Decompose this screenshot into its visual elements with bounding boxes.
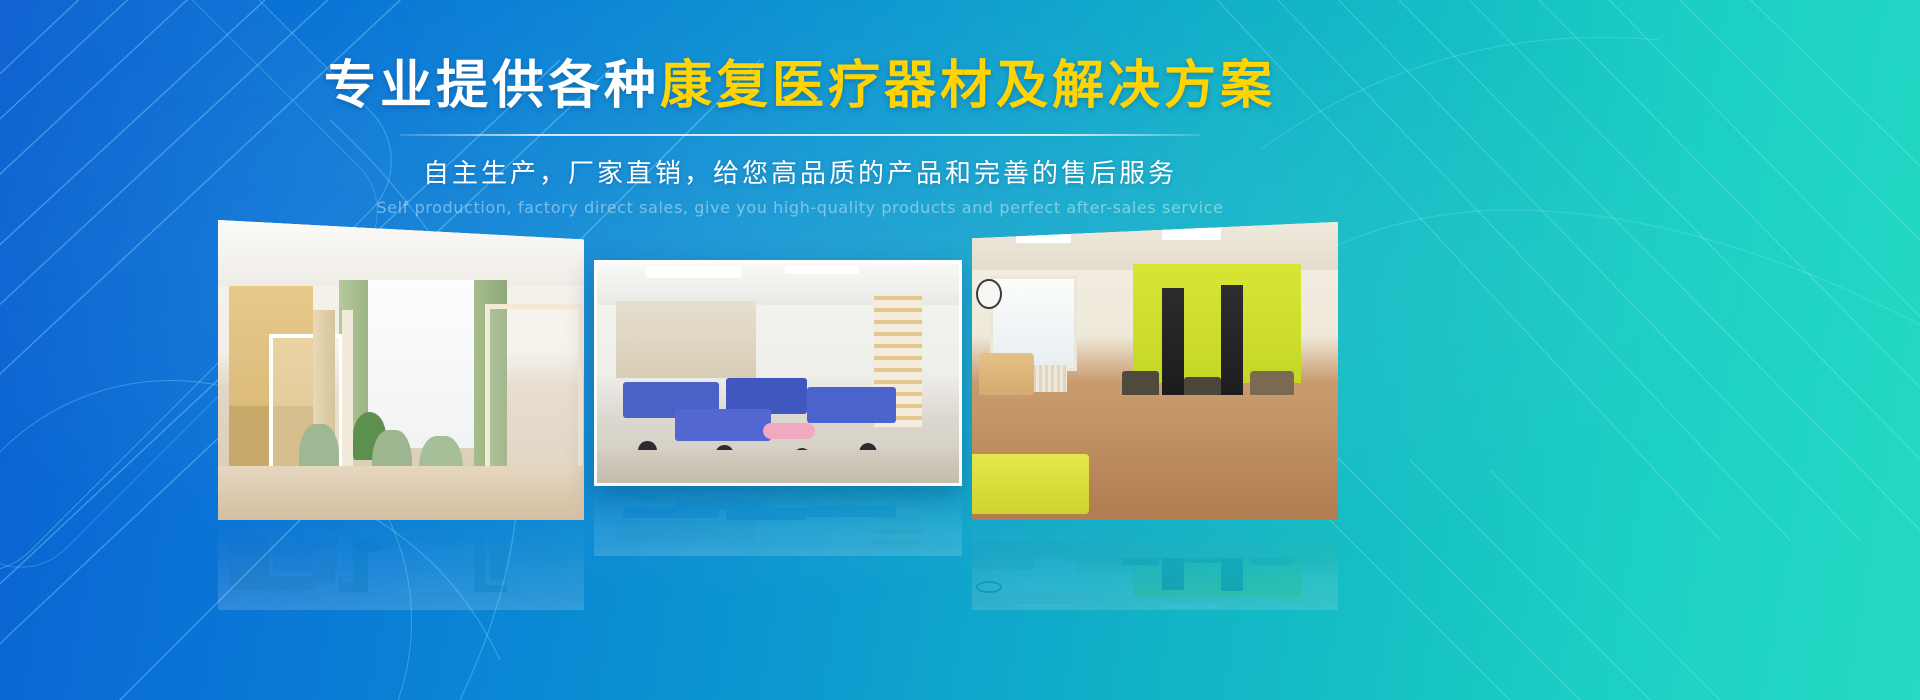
rehab-room-green-wall-image: [972, 222, 1338, 520]
promo-banner: 专业提供各种康复医疗器材及解决方案 自主生产，厂家直销，给您高品质的产品和完善的…: [0, 0, 1920, 700]
photo-panel-1[interactable]: [218, 220, 584, 520]
photo-gallery: [0, 0, 1920, 700]
rehab-room-wood-frames-image: [218, 220, 584, 520]
photo-panel-2[interactable]: [594, 260, 962, 486]
rehab-room-blue-beds-image: [594, 260, 962, 486]
photo-panel-3[interactable]: [972, 222, 1338, 520]
